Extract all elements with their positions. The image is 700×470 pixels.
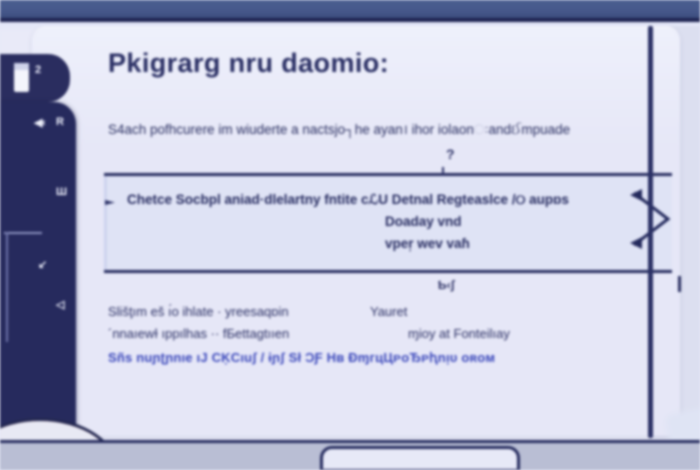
sidebar-item-4[interactable]: ◁ [56,298,64,311]
selected-list-row[interactable]: Chetce Socbpl aniad·dlelartny fntite cℒU… [104,176,672,270]
page-title: Pkigrarg nru daomio: [108,48,628,79]
lower-line-b-column: ɱioy at Fonteilıay [408,326,510,341]
sidebar-rule-vertical [6,232,8,342]
question-mark-label: ? [446,146,455,162]
sidebar-item-1[interactable]: R [56,116,63,128]
window-header-bar [0,0,700,18]
selected-row-line-1: Chetce Socbpl aniad·dlelartny fntite cℒU… [127,192,569,208]
sidebar-item-0[interactable]: ◀‹ [34,116,45,129]
lower-line-a-column: Yauret [370,304,407,319]
main-dialog-card: Pkigrarg nru daomio: S4ach pofhcurere im… [32,26,680,436]
sidebar-rule-horizontal [4,232,42,234]
sidebar-item-2[interactable]: Ш [56,186,67,198]
sidebar-badge[interactable]: 2 [0,54,70,102]
selected-arrow-icon [105,200,115,205]
selected-row-line-3: vper̩ wev vaɦ [385,236,470,251]
badge-count: 2 [35,64,41,76]
dialog-content: Pkigrarg nru daomio: S4ach pofhcurere im… [108,28,680,438]
intro-text: S4ach pofhcurere im wiuderte a nactsjo┐h… [108,120,668,138]
document-icon-fold [14,63,29,70]
divider-tick [442,167,444,176]
chevron-stem [678,276,681,292]
lower-line-b: ´nnaıewƗ ıppılhas ·· fƂettagtııen [108,326,289,341]
lower-line-a: Slišţım eš ı́o ihlate · yreesaqɒin [108,304,289,319]
bottom-stand [320,446,520,470]
selected-row-line-2: Doaday vnd [385,214,462,229]
sidebar-item-3[interactable]: ↙ [38,258,47,271]
lower-link-line[interactable]: Sñs nuɲʈɲnıe ıJ CḲCıuʃ / ɨɲʃ Sł ƆƑ Hʙ … [108,348,495,366]
expand-chevron-icon[interactable] [628,183,686,255]
screenshot-stage: Pkigrarg nru daomio: S4ach pofhcurere im… [0,0,700,470]
small-mark-label: Ƅ‹ʃ [438,278,455,292]
right-rail-divider [648,26,653,438]
left-sidebar: ◀‹ R Ш ↙ ◁ [0,102,76,462]
divider-bottom [104,270,672,273]
